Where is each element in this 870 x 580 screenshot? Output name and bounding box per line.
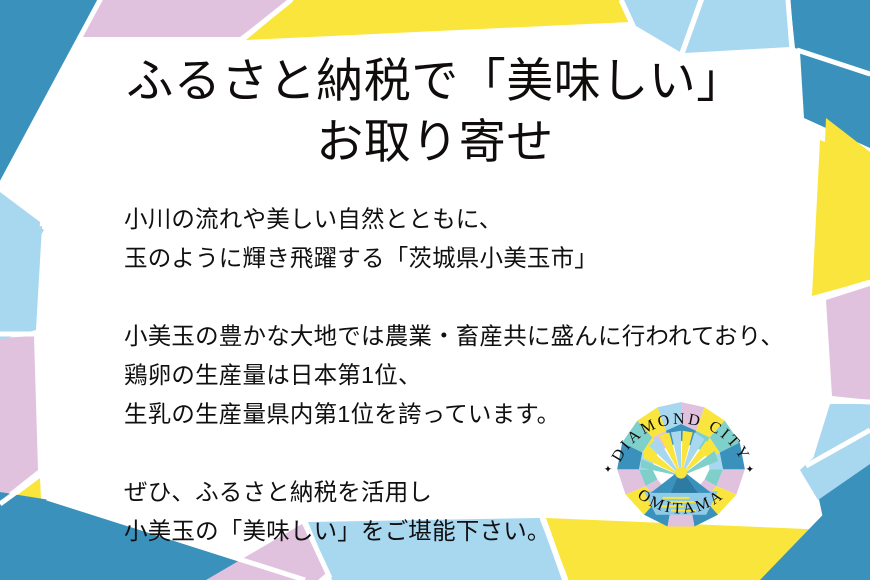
paragraph-intro-line-1: 小川の流れや美しい自然とともに、 — [124, 200, 824, 239]
poster-content: ふるさと納税で「美味しい」 お取り寄せ 小川の流れや美しい自然とともに、 玉のよ… — [0, 0, 870, 580]
paragraph-intro-line-2: 玉のように輝き飛躍する「茨城県小美玉市」 — [124, 239, 824, 278]
logo-sun — [675, 467, 687, 479]
title-line-1: ふるさと納税で「美味しい」 — [0, 52, 870, 113]
logo-ornament-right: ✦ — [746, 465, 755, 476]
logo-ornament-left: ✦ — [604, 465, 613, 476]
poster-canvas: ふるさと納税で「美味しい」 お取り寄せ 小川の流れや美しい自然とともに、 玉のよ… — [0, 0, 870, 580]
diamond-city-omitama-logo: DIAMOND CITY OMITAMA ✦ ✦ — [586, 382, 776, 550]
page-title: ふるさと納税で「美味しい」 お取り寄せ — [0, 52, 870, 174]
paragraph-intro: 小川の流れや美しい自然とともに、 玉のように輝き飛躍する「茨城県小美玉市」 — [124, 200, 824, 278]
title-line-2: お取り寄せ — [0, 113, 870, 174]
paragraph-production-line-1: 小美玉の豊かな大地では農業・畜産共に盛んに行われており、 — [124, 317, 824, 356]
